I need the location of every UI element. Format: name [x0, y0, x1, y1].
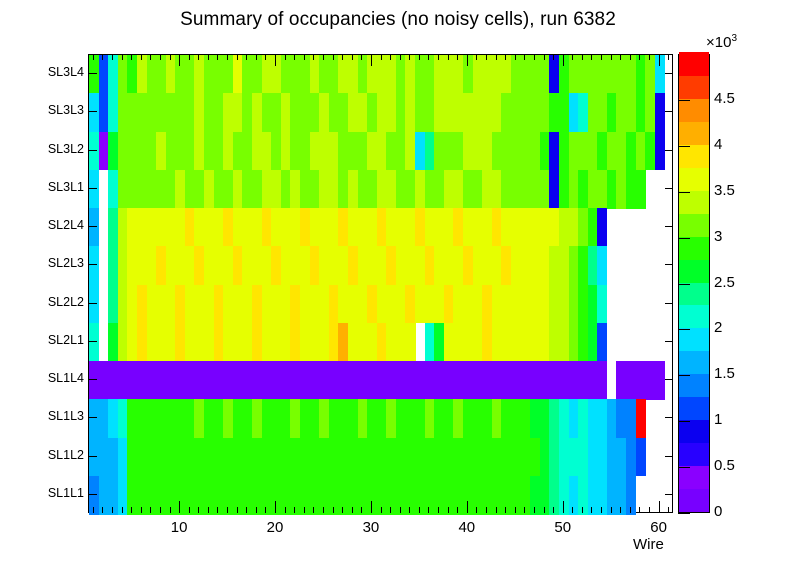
x-axis-minor-tick — [534, 507, 535, 513]
x-axis-tick-top — [265, 54, 266, 60]
colorbar-band — [679, 167, 709, 191]
x-axis-tick-top — [649, 54, 650, 60]
x-axis-minor-tick — [112, 507, 113, 513]
y-axis-tick — [88, 456, 97, 457]
x-axis-minor-tick — [189, 507, 190, 513]
x-axis-minor-tick — [400, 507, 401, 513]
colorbar-tick-label: 0 — [714, 503, 722, 520]
x-axis-tick-top — [563, 54, 564, 66]
x-axis-tick-top — [428, 54, 429, 60]
x-axis-tick-top — [572, 54, 573, 60]
colorbar-tick — [678, 467, 690, 468]
x-axis-tick-label: 30 — [351, 519, 391, 536]
x-axis-tick-label: 10 — [159, 519, 199, 536]
x-axis-minor-tick — [419, 507, 420, 513]
y-axis-tick — [88, 264, 97, 265]
heatmap-cell — [655, 361, 665, 400]
x-axis-minor-tick — [294, 507, 295, 513]
x-axis-tick-top — [591, 54, 592, 60]
heatmap-cell — [636, 438, 646, 477]
x-axis-title: Wire — [633, 536, 664, 553]
x-axis-tick-top — [400, 54, 401, 60]
x-axis-tick-top — [409, 54, 410, 60]
x-axis-tick-top — [534, 54, 535, 60]
colorbar-band — [679, 305, 709, 329]
heatmap-cell — [89, 170, 99, 209]
x-axis-tick-top — [275, 54, 276, 66]
x-axis-minor-tick — [304, 507, 305, 513]
y-axis-tick-right — [665, 111, 673, 112]
x-axis-tick-top — [179, 54, 180, 66]
heatmap-cell — [89, 246, 99, 285]
x-axis-minor-tick — [131, 507, 132, 513]
colorbar-exponent-label: ×103 — [706, 33, 737, 51]
x-axis-minor-tick — [428, 507, 429, 513]
y-axis-tick — [88, 150, 97, 151]
y-axis-tick — [88, 188, 97, 189]
x-axis-tick-top — [448, 54, 449, 60]
x-axis-tick-top — [371, 54, 372, 66]
x-axis-minor-tick — [620, 507, 621, 513]
heatmap-cell — [636, 170, 646, 209]
x-axis-tick-top — [112, 54, 113, 60]
colorbar-band — [679, 397, 709, 421]
colorbar-band — [679, 98, 709, 122]
x-axis-tick-top — [131, 54, 132, 60]
y-axis-tick — [88, 341, 97, 342]
colorbar-band — [679, 443, 709, 467]
x-axis-tick-top — [170, 54, 171, 60]
x-axis-tick-top — [668, 54, 669, 60]
heatmap-cells — [89, 55, 672, 512]
x-axis-minor-tick — [448, 507, 449, 513]
colorbar-band — [679, 374, 709, 398]
x-axis-tick-top — [457, 54, 458, 60]
y-axis-tick-label: SL2L1 — [28, 333, 84, 347]
y-axis-tick — [88, 73, 97, 74]
colorbar-tick-label: 4.5 — [714, 90, 735, 107]
x-axis-tick-label: 20 — [255, 519, 295, 536]
heatmap-cell — [89, 323, 99, 362]
x-axis-tick-label: 60 — [639, 519, 679, 536]
x-axis-tick-top — [189, 54, 190, 60]
x-axis-minor-tick — [342, 507, 343, 513]
y-axis-tick-label: SL2L3 — [28, 256, 84, 270]
x-axis-tick-top — [294, 54, 295, 60]
x-axis-tick-top — [524, 54, 525, 60]
x-axis-tick-top — [381, 54, 382, 60]
x-axis-tick-top — [256, 54, 257, 60]
x-axis-tick-top — [361, 54, 362, 60]
x-axis-tick-top — [611, 54, 612, 60]
x-axis-minor-tick — [160, 507, 161, 513]
x-axis-minor-tick — [601, 507, 602, 513]
x-axis-major-tick — [275, 501, 276, 513]
x-axis-minor-tick — [323, 507, 324, 513]
x-axis-tick-top — [467, 54, 468, 66]
x-axis-tick-top — [141, 54, 142, 60]
x-axis-minor-tick — [668, 507, 669, 513]
x-axis-minor-tick — [409, 507, 410, 513]
y-axis-tick-right — [665, 150, 673, 151]
y-axis-tick-label: SL1L1 — [28, 486, 84, 500]
x-axis-minor-tick — [544, 507, 545, 513]
colorbar-tick — [678, 513, 690, 514]
x-axis-tick-top — [313, 54, 314, 60]
heatmap-cell — [597, 361, 607, 400]
x-axis-minor-tick — [361, 507, 362, 513]
heatmap-cell — [597, 208, 607, 247]
y-axis-tick-right — [665, 417, 673, 418]
x-axis-minor-tick — [438, 507, 439, 513]
heatmap-plot-area[interactable] — [88, 54, 673, 513]
colorbar-tick-label: 2.5 — [714, 274, 735, 291]
x-axis-minor-tick — [390, 507, 391, 513]
page-title: Summary of occupancies (no noisy cells),… — [0, 9, 796, 31]
x-axis-minor-tick — [457, 507, 458, 513]
x-axis-minor-tick — [582, 507, 583, 513]
x-axis-minor-tick — [122, 507, 123, 513]
y-axis-tick — [88, 494, 97, 495]
y-axis-tick-label: SL2L2 — [28, 295, 84, 309]
y-axis-tick-right — [665, 226, 673, 227]
colorbar-band — [679, 121, 709, 145]
x-axis-minor-tick — [246, 507, 247, 513]
x-axis-minor-tick — [265, 507, 266, 513]
x-axis-tick-top — [198, 54, 199, 60]
x-axis-minor-tick — [381, 507, 382, 513]
colorbar-tick-label: 3 — [714, 228, 722, 245]
colorbar-tick-label: 0.5 — [714, 457, 735, 474]
x-axis-tick-top — [122, 54, 123, 60]
y-axis-tick-right — [665, 494, 673, 495]
x-axis-minor-tick — [333, 507, 334, 513]
y-axis-tick-label: SL3L4 — [28, 65, 84, 79]
colorbar-tick-label: 1 — [714, 411, 722, 428]
x-axis-tick-top — [639, 54, 640, 60]
colorbar-tick — [678, 238, 690, 239]
heatmap-cell — [655, 93, 665, 132]
colorbar-tick — [678, 284, 690, 285]
x-axis-tick-top — [486, 54, 487, 60]
colorbar-tick — [678, 375, 690, 376]
x-axis-tick-top — [160, 54, 161, 60]
x-axis-minor-tick — [93, 507, 94, 513]
y-axis-tick-label: SL1L4 — [28, 371, 84, 385]
x-axis-minor-tick — [150, 507, 151, 513]
x-axis-tick-top — [352, 54, 353, 60]
heatmap-cell — [636, 399, 646, 438]
x-axis-tick-top — [390, 54, 391, 60]
x-axis-tick-top — [553, 54, 554, 60]
y-axis-tick — [88, 303, 97, 304]
x-axis-minor-tick — [639, 507, 640, 513]
x-axis-minor-tick — [208, 507, 209, 513]
heatmap-cell — [405, 323, 415, 362]
x-axis-minor-tick — [313, 507, 314, 513]
y-axis-tick — [88, 379, 97, 380]
x-axis-tick-top — [438, 54, 439, 60]
colorbar-tick-label: 1.5 — [714, 365, 735, 382]
x-axis-minor-tick — [505, 507, 506, 513]
x-axis-minor-tick — [476, 507, 477, 513]
x-axis-tick-top — [304, 54, 305, 60]
x-axis-tick-top — [208, 54, 209, 60]
colorbar-band — [679, 144, 709, 168]
x-axis-tick-label: 40 — [447, 519, 487, 536]
heatmap-cell — [89, 208, 99, 247]
colorbar-tick — [678, 421, 690, 422]
x-axis-tick-top — [227, 54, 228, 60]
colorbar-band — [679, 213, 709, 237]
x-axis-minor-tick — [630, 507, 631, 513]
x-axis-major-tick — [659, 501, 660, 513]
x-axis-tick-top — [150, 54, 151, 60]
x-axis-major-tick — [467, 501, 468, 513]
y-axis-tick-label: SL3L1 — [28, 180, 84, 194]
x-axis-minor-tick — [649, 507, 650, 513]
colorbar-band — [679, 488, 709, 512]
y-axis-tick-right — [665, 303, 673, 304]
x-axis-tick-top — [630, 54, 631, 60]
x-axis-tick-top — [515, 54, 516, 60]
x-axis-tick-top — [323, 54, 324, 60]
y-axis-tick-right — [665, 379, 673, 380]
x-axis-minor-tick — [285, 507, 286, 513]
colorbar-tick-label: 3.5 — [714, 182, 735, 199]
x-axis-tick-top — [342, 54, 343, 60]
colorbar-tick-label: 2 — [714, 319, 722, 336]
x-axis-tick-top — [544, 54, 545, 60]
y-axis-tick-right — [665, 73, 673, 74]
x-axis-tick-top — [601, 54, 602, 60]
x-axis-minor-tick — [524, 507, 525, 513]
heatmap-cell — [89, 285, 99, 324]
colorbar-tick — [678, 192, 690, 193]
y-axis-tick-right — [665, 341, 673, 342]
x-axis-tick-top — [476, 54, 477, 60]
x-axis-minor-tick — [102, 507, 103, 513]
x-axis-minor-tick — [486, 507, 487, 513]
x-axis-minor-tick — [217, 507, 218, 513]
x-axis-tick-top — [102, 54, 103, 60]
x-axis-tick-top — [505, 54, 506, 60]
y-axis-tick-right — [665, 264, 673, 265]
x-axis-tick-label: 50 — [543, 519, 583, 536]
x-axis-minor-tick — [553, 507, 554, 513]
colorbar-band — [679, 420, 709, 444]
x-axis-minor-tick — [170, 507, 171, 513]
colorbar-band — [679, 351, 709, 375]
y-axis-labels: SL3L4SL3L3SL3L2SL3L1SL2L4SL2L3SL2L2SL2L1… — [24, 54, 84, 513]
y-axis-tick-label: SL3L2 — [28, 142, 84, 156]
y-axis-tick-label: SL1L2 — [28, 448, 84, 462]
colorbar-band — [679, 328, 709, 352]
x-axis-major-tick — [179, 501, 180, 513]
x-axis-tick-top — [246, 54, 247, 60]
colorbar-band — [679, 466, 709, 490]
x-axis-minor-tick — [352, 507, 353, 513]
colorbar-band — [679, 75, 709, 99]
x-axis-tick-top — [496, 54, 497, 60]
colorbar-tick — [678, 100, 690, 101]
heatmap-cell — [597, 323, 607, 362]
colorbar-band — [679, 282, 709, 306]
x-axis-minor-tick — [496, 507, 497, 513]
y-axis-tick-right — [665, 456, 673, 457]
y-axis-tick — [88, 226, 97, 227]
x-axis-tick-top — [659, 54, 660, 66]
x-axis-minor-tick — [572, 507, 573, 513]
colorbar-band — [679, 190, 709, 214]
heatmap-cell — [626, 476, 636, 515]
colorbar-band — [679, 236, 709, 260]
x-axis-major-tick — [563, 501, 564, 513]
x-axis-minor-tick — [141, 507, 142, 513]
colorbar-tick — [678, 146, 690, 147]
root-canvas: Summary of occupancies (no noisy cells),… — [0, 0, 796, 572]
x-axis-tick-top — [285, 54, 286, 60]
x-axis-minor-tick — [237, 507, 238, 513]
colorbar-band — [679, 52, 709, 76]
y-axis-tick-label: SL3L3 — [28, 103, 84, 117]
colorbar-exponent-superscript: 3 — [731, 33, 737, 44]
x-axis-tick-top — [217, 54, 218, 60]
y-axis-tick — [88, 111, 97, 112]
colorbar-tick-label: 4 — [714, 136, 722, 153]
x-axis-tick-top — [333, 54, 334, 60]
y-axis-tick-label: SL1L3 — [28, 409, 84, 423]
x-axis-minor-tick — [198, 507, 199, 513]
colorbar-tick — [678, 329, 690, 330]
heatmap-cell — [597, 285, 607, 324]
x-axis-tick-top — [237, 54, 238, 60]
x-axis-tick-top — [93, 54, 94, 60]
x-axis-tick-top — [419, 54, 420, 60]
heatmap-cell — [597, 246, 607, 285]
x-axis-tick-top — [620, 54, 621, 60]
y-axis-tick-right — [665, 188, 673, 189]
x-axis-minor-tick — [256, 507, 257, 513]
colorbar-band — [679, 259, 709, 283]
x-axis-minor-tick — [611, 507, 612, 513]
heatmap-cell — [655, 132, 665, 171]
x-axis-major-tick — [371, 501, 372, 513]
x-axis-tick-top — [582, 54, 583, 60]
x-axis-minor-tick — [515, 507, 516, 513]
x-axis-minor-tick — [591, 507, 592, 513]
y-axis-tick-label: SL2L4 — [28, 218, 84, 232]
y-axis-tick — [88, 417, 97, 418]
x-axis-minor-tick — [227, 507, 228, 513]
